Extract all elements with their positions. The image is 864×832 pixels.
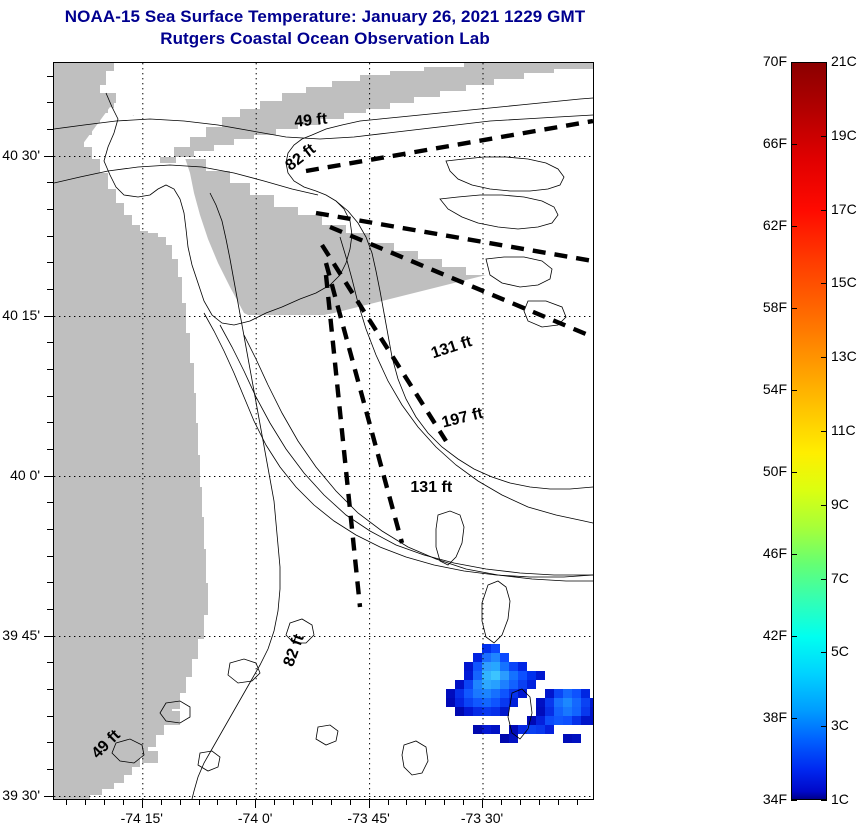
- colorbar-tick-celsius: [821, 357, 827, 358]
- colorbar-tick-fahrenheit: [791, 718, 797, 719]
- y-axis-major-tick: [44, 796, 53, 797]
- y-axis-minor-tick: [47, 396, 53, 397]
- colorbar-label-fahrenheit: 42F: [743, 627, 787, 643]
- colorbar-label-celsius: 13C: [831, 348, 864, 364]
- colorbar-tick-celsius: [821, 283, 827, 284]
- x-axis-minor-tick: [520, 799, 521, 805]
- map-gridlines: [54, 63, 593, 799]
- colorbar-label-celsius: 11C: [831, 422, 864, 438]
- colorbar-tick-fahrenheit: [791, 636, 797, 637]
- colorbar-tick-fahrenheit: [791, 226, 797, 227]
- vector-overlay-layer: [54, 63, 593, 799]
- colorbar-label-celsius: 21C: [831, 53, 864, 69]
- x-axis-minor-tick: [199, 799, 200, 805]
- y-axis-minor-tick: [47, 129, 53, 130]
- chart-title-line-2: Rutgers Coastal Ocean Observation Lab: [0, 28, 650, 50]
- shipping-lanes: [306, 121, 593, 607]
- depth-contour-label: 131 ft: [410, 479, 452, 497]
- colorbar-tick-fahrenheit: [791, 144, 797, 145]
- colorbar-label-celsius: 3C: [831, 717, 864, 733]
- chart-title-block: NOAA-15 Sea Surface Temperature: January…: [0, 6, 650, 50]
- colorbar-label-fahrenheit: 34F: [743, 791, 787, 807]
- x-axis-minor-tick: [236, 799, 237, 805]
- colorbar-tick-fahrenheit: [791, 308, 797, 309]
- x-axis-minor-tick: [501, 799, 502, 805]
- y-axis-minor-tick: [47, 342, 53, 343]
- x-axis-major-tick: [369, 799, 370, 808]
- colorbar-tick-fahrenheit: [791, 62, 797, 63]
- x-axis-tick-label: -73 45': [319, 810, 419, 826]
- colorbar-tick-celsius: [821, 652, 827, 653]
- x-axis-tick-label: -74 0': [205, 810, 305, 826]
- colorbar-label-fahrenheit: 54F: [743, 381, 787, 397]
- colorbar-tick-celsius: [821, 62, 827, 63]
- x-axis-minor-tick: [217, 799, 218, 805]
- colorbar-tick-fahrenheit: [791, 554, 797, 555]
- y-axis-minor-tick: [47, 369, 53, 370]
- y-axis-minor-tick: [47, 236, 53, 237]
- x-axis-major-tick: [482, 799, 483, 808]
- x-axis-minor-tick: [558, 799, 559, 805]
- coastline-lines: [104, 93, 593, 799]
- x-axis-major-tick: [142, 799, 143, 808]
- y-axis-minor-tick: [47, 262, 53, 263]
- y-axis-major-tick: [44, 476, 53, 477]
- y-axis-minor-tick: [47, 102, 53, 103]
- colorbar-label-celsius: 5C: [831, 643, 864, 659]
- y-axis-minor-tick: [47, 662, 53, 663]
- y-axis-minor-tick: [47, 716, 53, 717]
- y-axis-minor-tick: [47, 502, 53, 503]
- colorbar-label-celsius: 7C: [831, 570, 864, 586]
- x-axis-major-tick: [255, 799, 256, 808]
- x-axis-minor-tick: [161, 799, 162, 805]
- y-axis-minor-tick: [47, 609, 53, 610]
- colorbar-label-fahrenheit: 46F: [743, 545, 787, 561]
- y-axis-minor-tick: [47, 769, 53, 770]
- y-axis-major-tick: [44, 156, 53, 157]
- colorbar-label-celsius: 19C: [831, 127, 864, 143]
- colorbar-label-fahrenheit: 62F: [743, 217, 787, 233]
- x-axis-minor-tick: [331, 799, 332, 805]
- colorbar-label-fahrenheit: 70F: [743, 53, 787, 69]
- x-axis-minor-tick: [312, 799, 313, 805]
- x-axis-minor-tick: [274, 799, 275, 805]
- y-axis-minor-tick: [47, 76, 53, 77]
- sst-map-plot-area[interactable]: 49 ft82 ft131 ft197 ft131 ft82 ft49 ft: [53, 62, 594, 800]
- y-axis-tick-label: 39 45': [0, 627, 40, 643]
- x-axis-minor-tick: [104, 799, 105, 805]
- y-axis-tick-label: 39 30': [0, 787, 40, 803]
- colorbar-tick-fahrenheit: [791, 390, 797, 391]
- y-axis-tick-label: 40 15': [0, 307, 40, 323]
- colorbar-label-fahrenheit: 38F: [743, 709, 787, 725]
- x-axis-minor-tick: [406, 799, 407, 805]
- y-axis-minor-tick: [47, 689, 53, 690]
- x-axis-minor-tick: [123, 799, 124, 805]
- x-axis-minor-tick: [180, 799, 181, 805]
- colorbar-tick-celsius: [821, 505, 827, 506]
- colorbar-tick-celsius: [821, 136, 827, 137]
- colorbar-label-celsius: 9C: [831, 496, 864, 512]
- x-axis-minor-tick: [66, 799, 67, 805]
- x-axis-minor-tick: [388, 799, 389, 805]
- colorbar-tick-fahrenheit: [791, 472, 797, 473]
- y-axis-minor-tick: [47, 449, 53, 450]
- colorbar-label-celsius: 15C: [831, 274, 864, 290]
- y-axis-minor-tick: [47, 582, 53, 583]
- x-axis-minor-tick: [293, 799, 294, 805]
- map-clip: 49 ft82 ft131 ft197 ft131 ft82 ft49 ft: [54, 63, 593, 799]
- x-axis-minor-tick: [350, 799, 351, 805]
- y-axis-tick-label: 40 0': [0, 467, 40, 483]
- y-axis-major-tick: [44, 636, 53, 637]
- colorbar-label-celsius: 17C: [831, 201, 864, 217]
- colorbar-tick-celsius: [821, 431, 827, 432]
- x-axis-minor-tick: [425, 799, 426, 805]
- x-axis-minor-tick: [85, 799, 86, 805]
- y-axis-major-tick: [44, 316, 53, 317]
- y-axis-minor-tick: [47, 556, 53, 557]
- colorbar-tick-fahrenheit: [791, 800, 797, 801]
- colorbar-label-fahrenheit: 58F: [743, 299, 787, 315]
- colorbar-label-fahrenheit: 66F: [743, 135, 787, 151]
- colorbar-tick-celsius: [821, 579, 827, 580]
- chart-title-line-1: NOAA-15 Sea Surface Temperature: January…: [0, 6, 650, 28]
- colorbar-label-celsius: 1C: [831, 791, 864, 807]
- x-axis-minor-tick: [539, 799, 540, 805]
- colorbar-tick-celsius: [821, 800, 827, 801]
- bathymetric-contours: [54, 115, 593, 581]
- y-axis-minor-tick: [47, 182, 53, 183]
- x-axis-minor-tick: [463, 799, 464, 805]
- colorbar-label-fahrenheit: 50F: [743, 463, 787, 479]
- y-axis-minor-tick: [47, 209, 53, 210]
- y-axis-minor-tick: [47, 289, 53, 290]
- x-axis-tick-label: -74 15': [92, 810, 192, 826]
- colorbar-tick-celsius: [821, 210, 827, 211]
- y-axis-minor-tick: [47, 422, 53, 423]
- y-axis-minor-tick: [47, 529, 53, 530]
- colorbar-tick-celsius: [821, 726, 827, 727]
- x-axis-tick-label: -73 30': [432, 810, 532, 826]
- y-axis-minor-tick: [47, 742, 53, 743]
- x-axis-minor-tick: [577, 799, 578, 805]
- x-axis-minor-tick: [444, 799, 445, 805]
- y-axis-tick-label: 40 30': [0, 147, 40, 163]
